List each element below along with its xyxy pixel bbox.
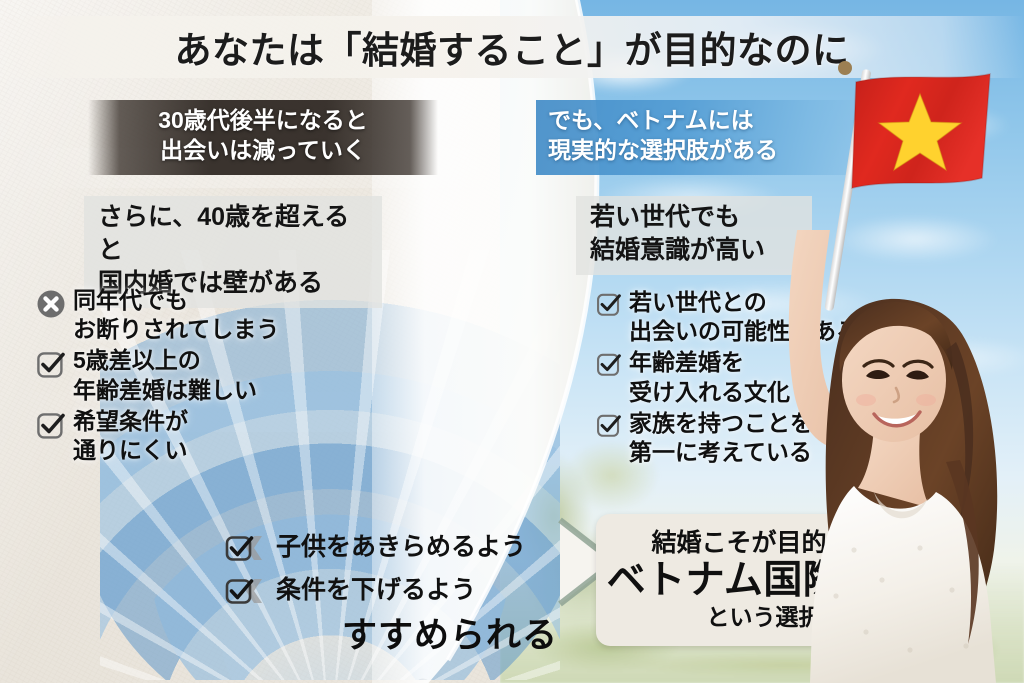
right-light-banner-line1: 若い世代でも [590, 201, 798, 234]
left-dark-banner: 30歳代後半になると 出会いは減っていく [88, 100, 438, 175]
list-item: 同年代でも お断りされてしまう [36, 286, 366, 344]
check-icon [224, 532, 270, 569]
check-icon [596, 351, 622, 382]
list-item-text: 子供をあきらめるよう [276, 532, 526, 562]
left-dark-banner-line2: 出会いは減っていく [98, 136, 428, 166]
list-item: 子供をあきらめるよう [224, 532, 554, 569]
check-icon [596, 291, 622, 322]
check-icon [596, 412, 622, 443]
smiling-woman-photo [770, 230, 1024, 683]
list-item-line2: お断りされてしまう [73, 316, 279, 342]
walking-man-silhouette [396, 678, 450, 680]
list-item-line1: 希望条件が [73, 408, 188, 434]
check-icon [36, 349, 66, 384]
left-bullet-list: 同年代でも お断りされてしまう 5歳差以上の 年齢差婚は難しい [36, 286, 366, 467]
right-light-banner-line2: 結婚意識が高い [590, 234, 798, 267]
bottom-left-list: 子供をあきらめるよう 条件を下げるよう [224, 532, 554, 618]
list-item-line2: 通りにくい [73, 437, 188, 463]
left-dark-banner-line1: 30歳代後半になると [98, 106, 428, 136]
list-item-line2: 受け入れる文化 [629, 379, 790, 405]
list-item-text: 5歳差以上の 年齢差婚は難しい [73, 346, 257, 404]
list-item-line1: 若い世代との [629, 289, 767, 315]
list-item-line1: 5歳差以上の [73, 347, 201, 373]
list-item-text: 希望条件が 通りにくい [73, 407, 188, 465]
list-item-line1: 同年代でも [73, 287, 188, 313]
list-item-text: 条件を下げるよう [276, 575, 476, 605]
list-item: 希望条件が 通りにくい [36, 407, 366, 465]
list-item-line2: 年齢差婚は難しい [73, 377, 257, 403]
check-icon [224, 575, 270, 612]
left-light-banner-line1: さらに、40歳を超えると [98, 201, 368, 267]
list-item: 5歳差以上の 年齢差婚は難しい [36, 346, 366, 404]
list-item-line1: 年齢差婚を [629, 349, 744, 375]
list-item-text: 同年代でも お断りされてしまう [73, 286, 279, 344]
cross-icon [36, 289, 66, 324]
infographic-canvas: あなたは「結婚すること」が目的なのに 30歳代後半になると 出会いは減っていく … [0, 0, 1024, 683]
emphasis-text: すすめられる [342, 607, 558, 658]
list-item-text: 年齢差婚を 受け入れる文化 [629, 348, 790, 406]
check-icon [36, 410, 66, 445]
